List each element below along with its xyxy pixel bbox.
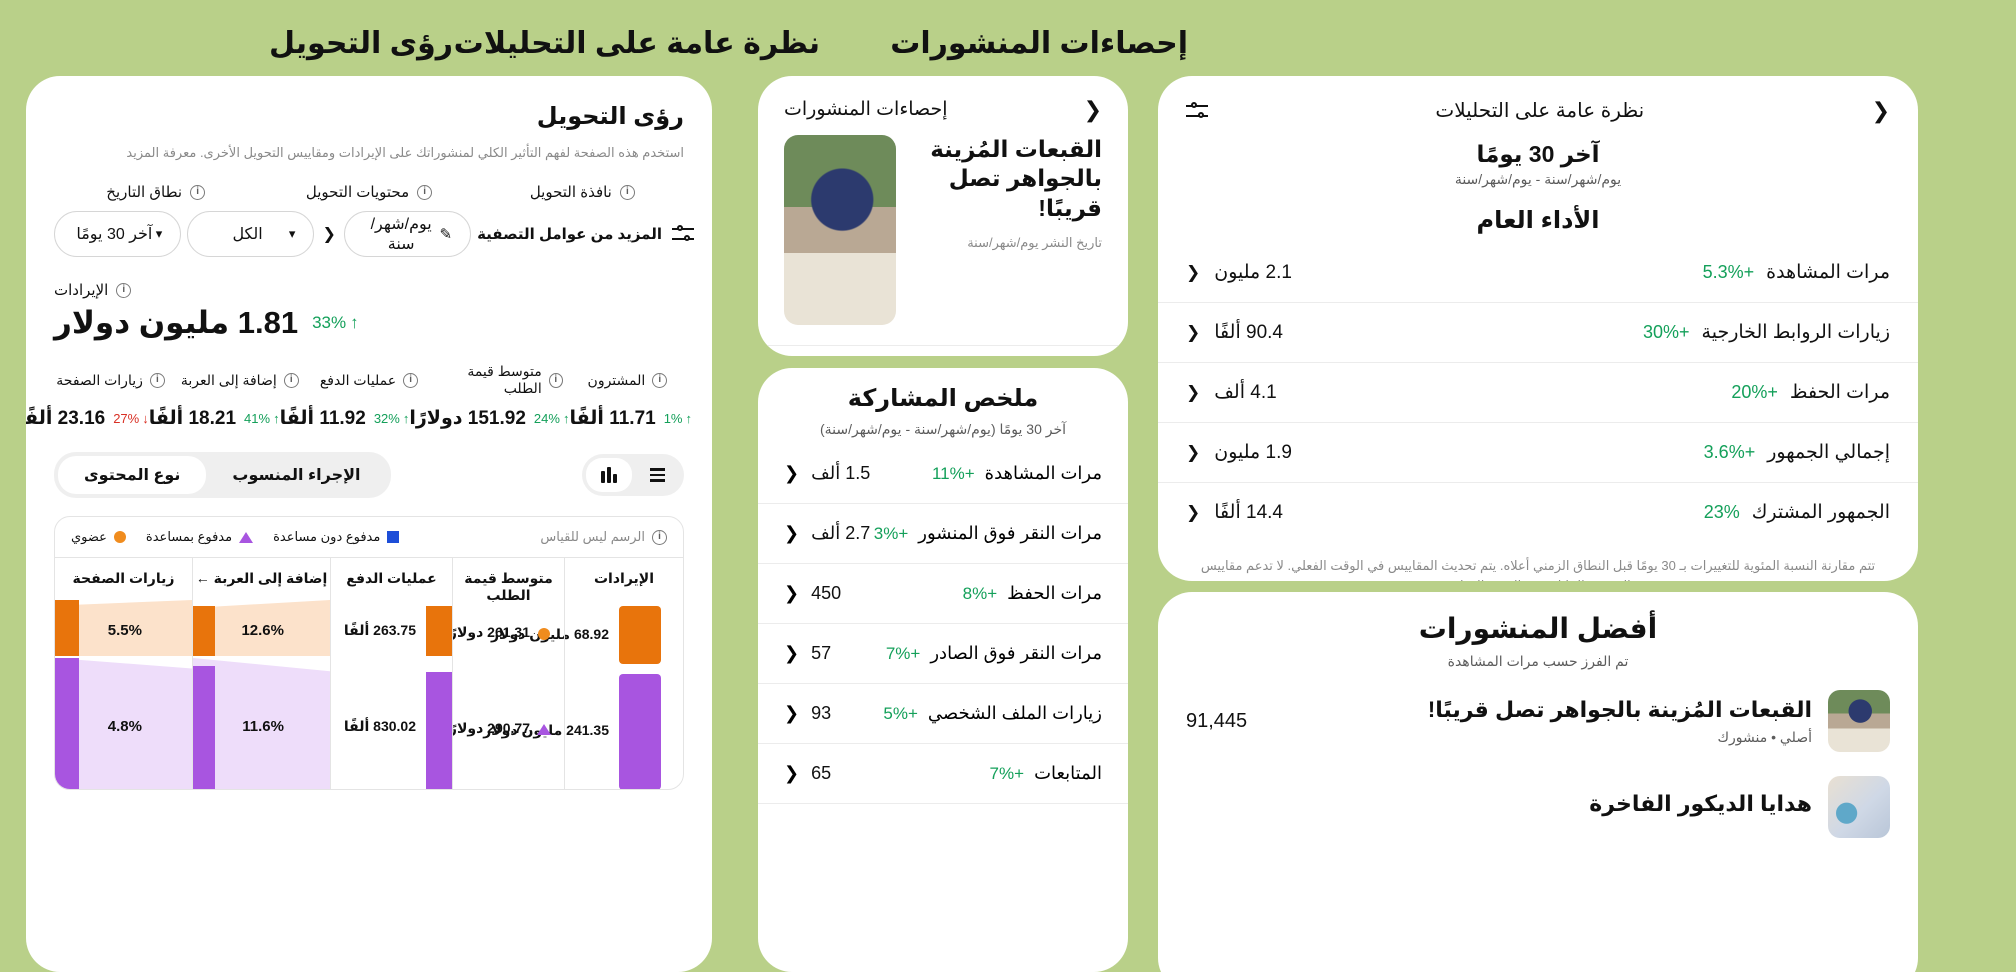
kpi-label-aov: i متوسط قيمة الطلب bbox=[434, 363, 563, 397]
toggles-row: الإجراء المنسوب نوع المحتوى bbox=[26, 430, 712, 498]
overview-metrics-list: مرات المشاهدة +5.3% 2.1 مليون ❮ زيارات ا… bbox=[1158, 243, 1918, 542]
pct-paid-assisted: 11.6% bbox=[242, 718, 284, 735]
revenue-delta-value: 33% bbox=[312, 313, 346, 333]
arrow-up-icon: ↑ bbox=[403, 411, 410, 426]
info-icon[interactable]: i bbox=[284, 373, 299, 388]
overview-card-title: نظرة عامة على التحليلات bbox=[1435, 98, 1644, 123]
metric-value: 4.1 ألف bbox=[1214, 381, 1276, 404]
kpi-label-text: إضافة إلى العربة bbox=[181, 372, 277, 389]
date-range-main: آخر 30 يومًا bbox=[1158, 141, 1918, 168]
overall-performance-title: الأداء العام bbox=[1158, 190, 1918, 243]
top-posts-title: أفضل المنشورات bbox=[1158, 592, 1918, 653]
list-view-button[interactable] bbox=[634, 458, 680, 492]
funnel-col-header: زيارات الصفحة bbox=[55, 558, 192, 597]
chevron-left-icon[interactable]: ❮ bbox=[1186, 323, 1200, 343]
metric-row[interactable]: زيارات الروابط الخارجية +30% 90.4 ألفًا … bbox=[1158, 303, 1918, 363]
revenue-value: 1.81 مليون دولار bbox=[54, 305, 298, 341]
summary-value: 93 bbox=[811, 703, 831, 724]
legend-item-organic: عضوي bbox=[71, 529, 126, 545]
conversion-content-select[interactable]: ▾ الكل bbox=[187, 211, 314, 257]
legend-label: مدفوع دون مساعدة bbox=[273, 529, 380, 545]
legend-label: مدفوع بمساعدة bbox=[146, 529, 232, 545]
date-range-value: آخر 30 يومًا bbox=[73, 224, 156, 244]
kpi-value-add-to-cart: ↑ 41% 18.21 ألفًا bbox=[149, 407, 280, 430]
legend-label: عضوي bbox=[71, 529, 107, 545]
summary-change: +3% bbox=[874, 524, 909, 544]
kpi-delta: ↓ 27% bbox=[113, 411, 149, 426]
info-icon[interactable]: i bbox=[652, 373, 667, 388]
arrow-up-icon: ↑ bbox=[563, 411, 570, 426]
metric-row[interactable]: إجمالي الجمهور +3.6% 1.9 مليون ❮ bbox=[1158, 423, 1918, 483]
metric-change: +30% bbox=[1643, 322, 1690, 343]
analytics-overview-card: ❮ نظرة عامة على التحليلات آخر 30 يومًا ي… bbox=[1158, 76, 1918, 581]
chevron-left-icon[interactable]: ❮ bbox=[784, 703, 799, 724]
chevron-down-icon[interactable]: ▾ bbox=[289, 226, 296, 242]
kpi-value-page-visits: ↓ 27% 23.16 ألفًا bbox=[26, 407, 149, 430]
arrow-down-icon: ↓ bbox=[142, 411, 149, 426]
info-icon[interactable]: i bbox=[620, 185, 635, 200]
post-meta: أصلي • منشورك bbox=[1263, 729, 1812, 746]
summary-row[interactable]: مرات النقر فوق المنشور +3% 2.7 ألف ❮ bbox=[758, 504, 1128, 564]
kpi-delta-value: 41% bbox=[244, 411, 270, 426]
chevron-left-icon[interactable]: ❮ bbox=[1084, 99, 1102, 121]
analytics-overview-column: ❮ نظرة عامة على التحليلات آخر 30 يومًا ي… bbox=[1150, 0, 2016, 972]
revenue-label-row: i الإيرادات bbox=[26, 257, 712, 299]
metric-change: +3.6% bbox=[1704, 442, 1756, 463]
kpi-delta-value: 32% bbox=[374, 411, 400, 426]
value-organic: 261.31 دولارًا bbox=[444, 624, 530, 641]
arrow-up-icon: ↑ bbox=[686, 411, 693, 426]
legend-swatch-circle bbox=[114, 531, 126, 543]
metric-value: 1.9 مليون bbox=[1214, 441, 1292, 464]
kpi-value-text: 11.71 ألفًا bbox=[569, 407, 655, 430]
kpi-value-text: 151.92 دولارًا bbox=[409, 407, 526, 430]
metric-value: 14.4 ألفًا bbox=[1214, 501, 1283, 524]
filter-label-date-range: i نطاق التاريخ bbox=[54, 183, 257, 201]
chevron-left-icon[interactable]: ❮ bbox=[1186, 263, 1200, 283]
summary-value: 65 bbox=[811, 763, 831, 784]
kpi-labels-row: i المشترون i متوسط قيمة الطلب i عمليات ا… bbox=[26, 341, 712, 397]
chevron-left-icon[interactable]: ❮ bbox=[784, 583, 799, 604]
date-range-sub: يوم/شهر/سنة - يوم/شهر/سنة bbox=[1158, 171, 1918, 188]
metric-change: 23% bbox=[1704, 502, 1740, 523]
summary-row[interactable]: مرات الحفظ +8% 450 ❮ bbox=[758, 564, 1128, 624]
pct-paid-assisted: 4.8% bbox=[108, 718, 142, 735]
info-icon[interactable]: i bbox=[403, 373, 418, 388]
top-posts-subtitle: تم الفرز حسب مرات المشاهدة bbox=[1158, 653, 1918, 676]
value-paid-assisted: 290.77 دولارًا bbox=[444, 720, 530, 737]
value-paid-assisted: 830.02 ألفًا bbox=[344, 718, 416, 735]
chevron-left-icon[interactable]: ❮ bbox=[1186, 443, 1200, 463]
chevron-left-icon[interactable]: ❮ bbox=[1186, 383, 1200, 403]
post-title: القبعات المُزينة بالجواهر تصل قريبًا! bbox=[1263, 696, 1812, 724]
funnel-chart-panel: i الرسم ليس للقياس مدفوع دون مساعدة مدفو… bbox=[54, 516, 684, 790]
post-stats-header: ❮ إحصاءات المنشورات bbox=[758, 76, 1128, 131]
view-toggle-group[interactable] bbox=[582, 454, 684, 496]
not-to-scale-note: i الرسم ليس للقياس bbox=[540, 529, 667, 545]
date-range-block[interactable]: آخر 30 يومًا يوم/شهر/سنة - يوم/شهر/سنة bbox=[1158, 137, 1918, 190]
kpi-label-add-to-cart: i إضافة إلى العربة bbox=[175, 363, 304, 397]
legend-swatch-square bbox=[387, 531, 399, 543]
filter-label-text: محتويات التحويل bbox=[306, 183, 409, 201]
filter-label-conversion-window: i نافذة التحويل bbox=[481, 183, 684, 201]
metric-row[interactable]: مرات الحفظ +20% 4.1 ألف ❮ bbox=[1158, 363, 1918, 423]
summary-row[interactable]: مرات المشاهدة +11% 1.5 ألف ❮ bbox=[758, 444, 1128, 504]
chevron-left-icon[interactable]: ❮ bbox=[784, 643, 799, 664]
kpi-value-text: 18.21 ألفًا bbox=[149, 407, 236, 430]
metric-row[interactable]: الجمهور المشترك 23% 14.4 ألفًا ❮ bbox=[1158, 483, 1918, 542]
featured-post-title: القبعات المُزينة بالجواهر تصل قريبًا! bbox=[912, 135, 1102, 223]
metric-label: إجمالي الجمهور bbox=[1767, 441, 1890, 464]
pct-organic: 12.6% bbox=[241, 622, 284, 639]
funnel-col-checkouts: عمليات الدفع 263.75 ألفًا 830.02 ألفًا bbox=[331, 558, 453, 789]
chevron-left-icon[interactable]: ❮ bbox=[1186, 503, 1200, 523]
segmented-control[interactable]: الإجراء المنسوب نوع المحتوى bbox=[54, 452, 391, 498]
metric-change: +20% bbox=[1731, 382, 1778, 403]
summary-label: مرات النقر فوق الصادر bbox=[930, 643, 1102, 664]
legend-item-paid-assisted: مدفوع بمساعدة bbox=[146, 529, 253, 545]
summary-change: +7% bbox=[886, 644, 921, 664]
info-icon[interactable]: i bbox=[190, 185, 205, 200]
funnel-col-revenue: الإيرادات 68.92 مليون دولار 241.35 مليون… bbox=[565, 558, 683, 789]
kpi-label-text: عمليات الدفع bbox=[320, 372, 396, 389]
chart-legend: i الرسم ليس للقياس مدفوع دون مساعدة مدفو… bbox=[55, 517, 683, 557]
kpi-delta: ↑ 32% bbox=[374, 411, 410, 426]
filter-label-text: نافذة التحويل bbox=[530, 183, 612, 201]
funnel-col-header: إضافة إلى العربة ← bbox=[193, 558, 330, 597]
kpi-label-text: متوسط قيمة الطلب bbox=[434, 363, 542, 397]
dashboard-stage: نظرة عامة على التحليلات إحصاءات المنشورا… bbox=[0, 0, 2016, 972]
overview-card-header: ❮ نظرة عامة على التحليلات bbox=[1158, 76, 1918, 137]
revenue-label: الإيرادات bbox=[54, 281, 108, 299]
kpi-value-checkouts: ↑ 32% 11.92 ألفًا bbox=[280, 407, 410, 430]
metric-value: 2.1 مليون bbox=[1214, 261, 1292, 284]
filter-sliders-icon bbox=[672, 225, 694, 243]
info-icon[interactable]: i bbox=[116, 283, 131, 298]
kpi-value-text: 23.16 ألفًا bbox=[26, 407, 105, 430]
chevron-left-icon[interactable]: ❮ bbox=[784, 523, 799, 544]
info-icon[interactable]: i bbox=[417, 185, 432, 200]
summary-change: +11% bbox=[932, 464, 975, 484]
kpi-label-buyers: i المشترون bbox=[563, 363, 692, 397]
list-item[interactable]: القبعات المُزينة بالجواهر تصل قريبًا! أص… bbox=[1158, 676, 1918, 762]
post-title: هدايا الديكور الفاخرة bbox=[1202, 790, 1812, 818]
summary-label: المتابعات bbox=[1034, 763, 1102, 784]
summary-label: مرات المشاهدة bbox=[985, 463, 1102, 484]
more-filters-button[interactable]: المزيد من عوامل التصفية bbox=[477, 225, 704, 243]
bar-organic bbox=[619, 606, 661, 664]
kpi-label-page-visits: i زيارات الصفحة bbox=[46, 363, 175, 397]
conversion-window-value: يوم/شهر/سنة bbox=[363, 214, 440, 254]
kpi-delta: ↑ 41% bbox=[244, 411, 280, 426]
bar-paid-assisted bbox=[55, 658, 79, 790]
revenue-delta: ↑ 33% bbox=[312, 313, 359, 333]
page-title: رؤى التحويل bbox=[26, 76, 712, 131]
summary-change: +8% bbox=[963, 584, 998, 604]
marker-paid-triangle bbox=[537, 724, 551, 735]
summary-change: +7% bbox=[990, 764, 1025, 784]
metric-label: الجمهور المشترك bbox=[1752, 501, 1890, 524]
value-organic: 263.75 ألفًا bbox=[344, 622, 416, 639]
filter-label-conversion-content: i محتويات التحويل bbox=[267, 183, 470, 201]
legend-swatch-triangle bbox=[239, 532, 253, 543]
featured-post-image bbox=[784, 135, 896, 325]
funnel-columns: الإيرادات 68.92 مليون دولار 241.35 مليون… bbox=[55, 557, 683, 789]
more-filters-label: المزيد من عوامل التصفية bbox=[477, 225, 662, 243]
pencil-icon[interactable]: ✎ bbox=[440, 225, 453, 243]
conversion-insights-card: رؤى التحويل استخدم هذه الصفحة لفهم التأث… bbox=[26, 76, 712, 972]
kpi-delta: ↑ 24% bbox=[534, 411, 570, 426]
metric-change: +5.3% bbox=[1703, 262, 1755, 283]
funnel-col-header: عمليات الدفع bbox=[331, 558, 452, 597]
summary-value: 57 bbox=[811, 643, 831, 664]
info-icon[interactable]: i bbox=[549, 373, 563, 388]
engagement-row-comments[interactable]: # التعليقات bbox=[758, 345, 1128, 356]
metric-label: مرات الحفظ bbox=[1790, 381, 1890, 404]
summary-change: +5% bbox=[883, 704, 918, 724]
marker-organic-circle bbox=[538, 628, 550, 640]
kpi-value-text: 11.92 ألفًا bbox=[280, 407, 366, 430]
conversion-content-value: الكل bbox=[206, 224, 289, 244]
bar-paid-assisted bbox=[193, 666, 215, 790]
summary-label: مرات الحفظ bbox=[1007, 583, 1102, 604]
engagement-summary-title: ملخص المشاركة bbox=[758, 368, 1128, 421]
page-description: استخدم هذه الصفحة لفهم التأثير الكلي لمن… bbox=[26, 131, 712, 161]
filter-sliders-icon[interactable] bbox=[1186, 102, 1208, 120]
info-icon[interactable]: i bbox=[652, 530, 667, 545]
funnel-col-aov: متوسط قيمة الطلب 261.31 دولارًا 290.77 د… bbox=[453, 558, 565, 789]
bar-paid-assisted bbox=[619, 674, 661, 790]
not-to-scale-text: الرسم ليس للقياس bbox=[540, 529, 645, 545]
pct-organic: 5.5% bbox=[108, 622, 142, 639]
summary-label: مرات النقر فوق المنشور bbox=[918, 523, 1102, 544]
funnel-col-add-to-cart: إضافة إلى العربة ← 12.6% 11.6% bbox=[193, 558, 331, 789]
kpi-delta-value: 1% bbox=[664, 411, 683, 426]
metric-row[interactable]: مرات المشاهدة +5.3% 2.1 مليون ❮ bbox=[1158, 243, 1918, 303]
info-icon[interactable]: i bbox=[150, 373, 165, 388]
featured-post-date: تاريخ النشر يوم/شهر/سنة bbox=[912, 233, 1102, 253]
conversion-window-select[interactable]: ✎ يوم/شهر/سنة bbox=[344, 211, 471, 257]
arrow-up-icon: ↑ bbox=[350, 313, 359, 333]
bar-organic bbox=[193, 606, 215, 656]
post-stats-card: ❮ إحصاءات المنشورات القبعات المُزينة بال… bbox=[758, 76, 1128, 356]
post-stats-column: ❮ إحصاءات المنشورات القبعات المُزينة بال… bbox=[738, 0, 1168, 972]
date-range-select[interactable]: ▾ آخر 30 يومًا bbox=[54, 211, 181, 257]
kpi-label-text: زيارات الصفحة bbox=[56, 372, 143, 389]
summary-value: 2.7 ألف bbox=[811, 523, 870, 544]
summary-label: زيارات الملف الشخصي bbox=[928, 703, 1102, 724]
summary-row[interactable]: زيارات الملف الشخصي +5% 93 ❮ bbox=[758, 684, 1128, 744]
list-icon bbox=[650, 468, 665, 481]
chart-view-button[interactable] bbox=[586, 458, 632, 492]
metric-label: زيارات الروابط الخارجية bbox=[1702, 321, 1890, 344]
legend-item-paid-unassisted: مدفوع دون مساعدة bbox=[273, 529, 399, 545]
kpi-delta-value: 27% bbox=[113, 411, 139, 426]
metric-value: 90.4 ألفًا bbox=[1214, 321, 1283, 344]
tab-content-type[interactable]: نوع المحتوى bbox=[58, 456, 206, 494]
metric-label: مرات المشاهدة bbox=[1766, 261, 1890, 284]
top-posts-card: أفضل المنشورات تم الفرز حسب مرات المشاهد… bbox=[1158, 592, 1918, 972]
funnel-col-page-visits: زيارات الصفحة 5.5% 4.8% bbox=[55, 558, 193, 789]
arrow-up-icon: ↑ bbox=[273, 411, 280, 426]
featured-post[interactable]: القبعات المُزينة بالجواهر تصل قريبًا! تا… bbox=[758, 131, 1128, 345]
post-thumbnail bbox=[1828, 690, 1890, 752]
chevron-left-icon[interactable]: ❮ bbox=[784, 463, 799, 484]
chevron-left-icon[interactable]: ❮ bbox=[1872, 100, 1890, 122]
summary-row[interactable]: المتابعات +7% 65 ❮ bbox=[758, 744, 1128, 804]
tab-attributed-action[interactable]: الإجراء المنسوب bbox=[206, 456, 386, 494]
filter-labels-row: i نافذة التحويل i محتويات التحويل i نطاق… bbox=[26, 161, 712, 201]
bar-organic bbox=[55, 600, 79, 656]
kpi-value-aov: ↑ 24% 151.92 دولارًا bbox=[409, 407, 569, 430]
filters-row: المزيد من عوامل التصفية ✎ يوم/شهر/سنة ❮ … bbox=[26, 201, 712, 257]
post-thumbnail bbox=[1828, 776, 1890, 838]
funnel-col-header: الإيرادات bbox=[565, 558, 683, 597]
kpi-delta-value: 24% bbox=[534, 411, 560, 426]
metrics-footnote: تتم مقارنة النسبة المئوية للتغييرات بـ 3… bbox=[1158, 542, 1918, 581]
summary-row[interactable]: مرات النقر فوق الصادر +7% 57 ❮ bbox=[758, 624, 1128, 684]
kpi-values-row: ↑ 1% 11.71 ألفًا ↑ 24% 151.92 دولارًا ↑ bbox=[26, 397, 712, 430]
summary-value: 1.5 ألف bbox=[811, 463, 870, 484]
summary-value: 450 bbox=[811, 583, 841, 604]
engagement-summary-card: ملخص المشاركة آخر 30 يومًا (يوم/شهر/سنة … bbox=[758, 368, 1128, 972]
filter-label-text: نطاق التاريخ bbox=[106, 183, 182, 201]
bar-chart-icon bbox=[601, 467, 617, 483]
list-item[interactable]: هدايا الديكور الفاخرة bbox=[1158, 762, 1918, 848]
kpi-label-checkouts: i عمليات الدفع bbox=[304, 363, 433, 397]
chevron-left-icon[interactable]: ❮ bbox=[784, 763, 799, 784]
bar-organic bbox=[426, 606, 452, 656]
conversion-insights-column: رؤى التحويل استخدم هذه الصفحة لفهم التأث… bbox=[0, 0, 740, 972]
revenue-value-row: ↑ 33% 1.81 مليون دولار bbox=[26, 299, 712, 341]
bar-paid-assisted bbox=[426, 672, 452, 790]
chevron-down-icon[interactable]: ▾ bbox=[156, 226, 163, 242]
kpi-label-text: المشترون bbox=[588, 372, 646, 389]
post-stats-title: إحصاءات المنشورات bbox=[784, 98, 948, 121]
arrow-separator-icon: ❮ bbox=[320, 224, 337, 244]
kpi-value-buyers: ↑ 1% 11.71 ألفًا bbox=[569, 407, 692, 430]
post-view-count: 91,445 bbox=[1186, 710, 1247, 733]
engagement-summary-subtitle: آخر 30 يومًا (يوم/شهر/سنة - يوم/شهر/سنة) bbox=[758, 421, 1128, 444]
kpi-delta: ↑ 1% bbox=[664, 411, 692, 426]
